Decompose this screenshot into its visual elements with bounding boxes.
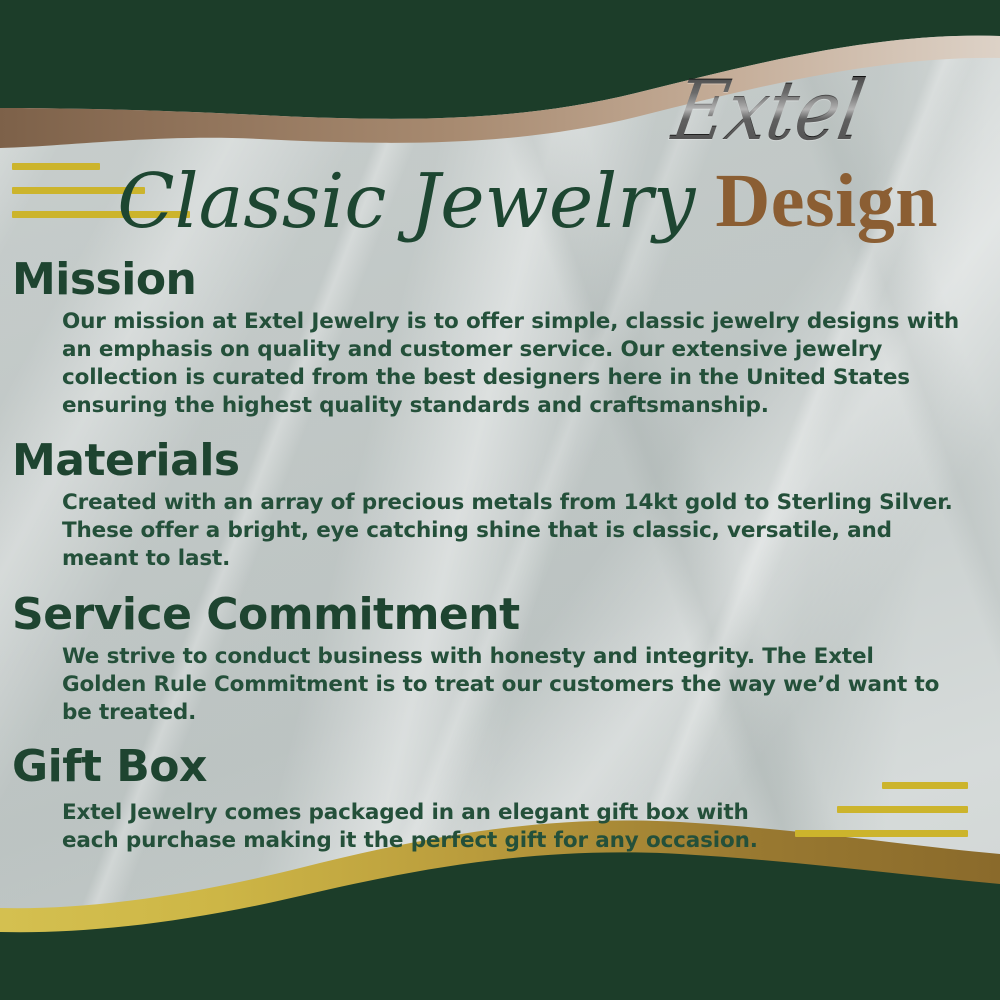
gold-line-right-3 <box>795 830 968 837</box>
gold-line-right-2 <box>837 806 968 813</box>
poster-canvas: Extel Classic Jewelry Design Mission Our… <box>0 0 1000 1000</box>
section-body-materials: Created with an array of precious metals… <box>0 489 1000 573</box>
section-body-service: We strive to conduct business with hones… <box>0 643 1000 727</box>
title-serif-part: Design <box>715 163 938 239</box>
section-heading-mission: Mission <box>0 256 1000 303</box>
gold-line-right-1 <box>882 782 968 789</box>
title-script-part: Classic Jewelry <box>117 164 695 239</box>
section-body-mission: Our mission at Extel Jewelry is to offer… <box>0 308 1000 420</box>
section-materials: Materials Created with an array of preci… <box>0 437 1000 573</box>
section-heading-materials: Materials <box>0 437 1000 484</box>
brand-logo: Extel <box>598 66 938 156</box>
section-mission: Mission Our mission at Extel Jewelry is … <box>0 256 1000 420</box>
decor-lines-right <box>795 782 968 837</box>
section-service-commitment: Service Commitment We strive to conduct … <box>0 591 1000 727</box>
page-title: Classic Jewelry Design <box>0 155 1000 247</box>
content-sections: Mission Our mission at Extel Jewelry is … <box>0 256 1000 871</box>
section-heading-service: Service Commitment <box>0 591 1000 638</box>
brand-logo-text: Extel <box>667 70 870 153</box>
